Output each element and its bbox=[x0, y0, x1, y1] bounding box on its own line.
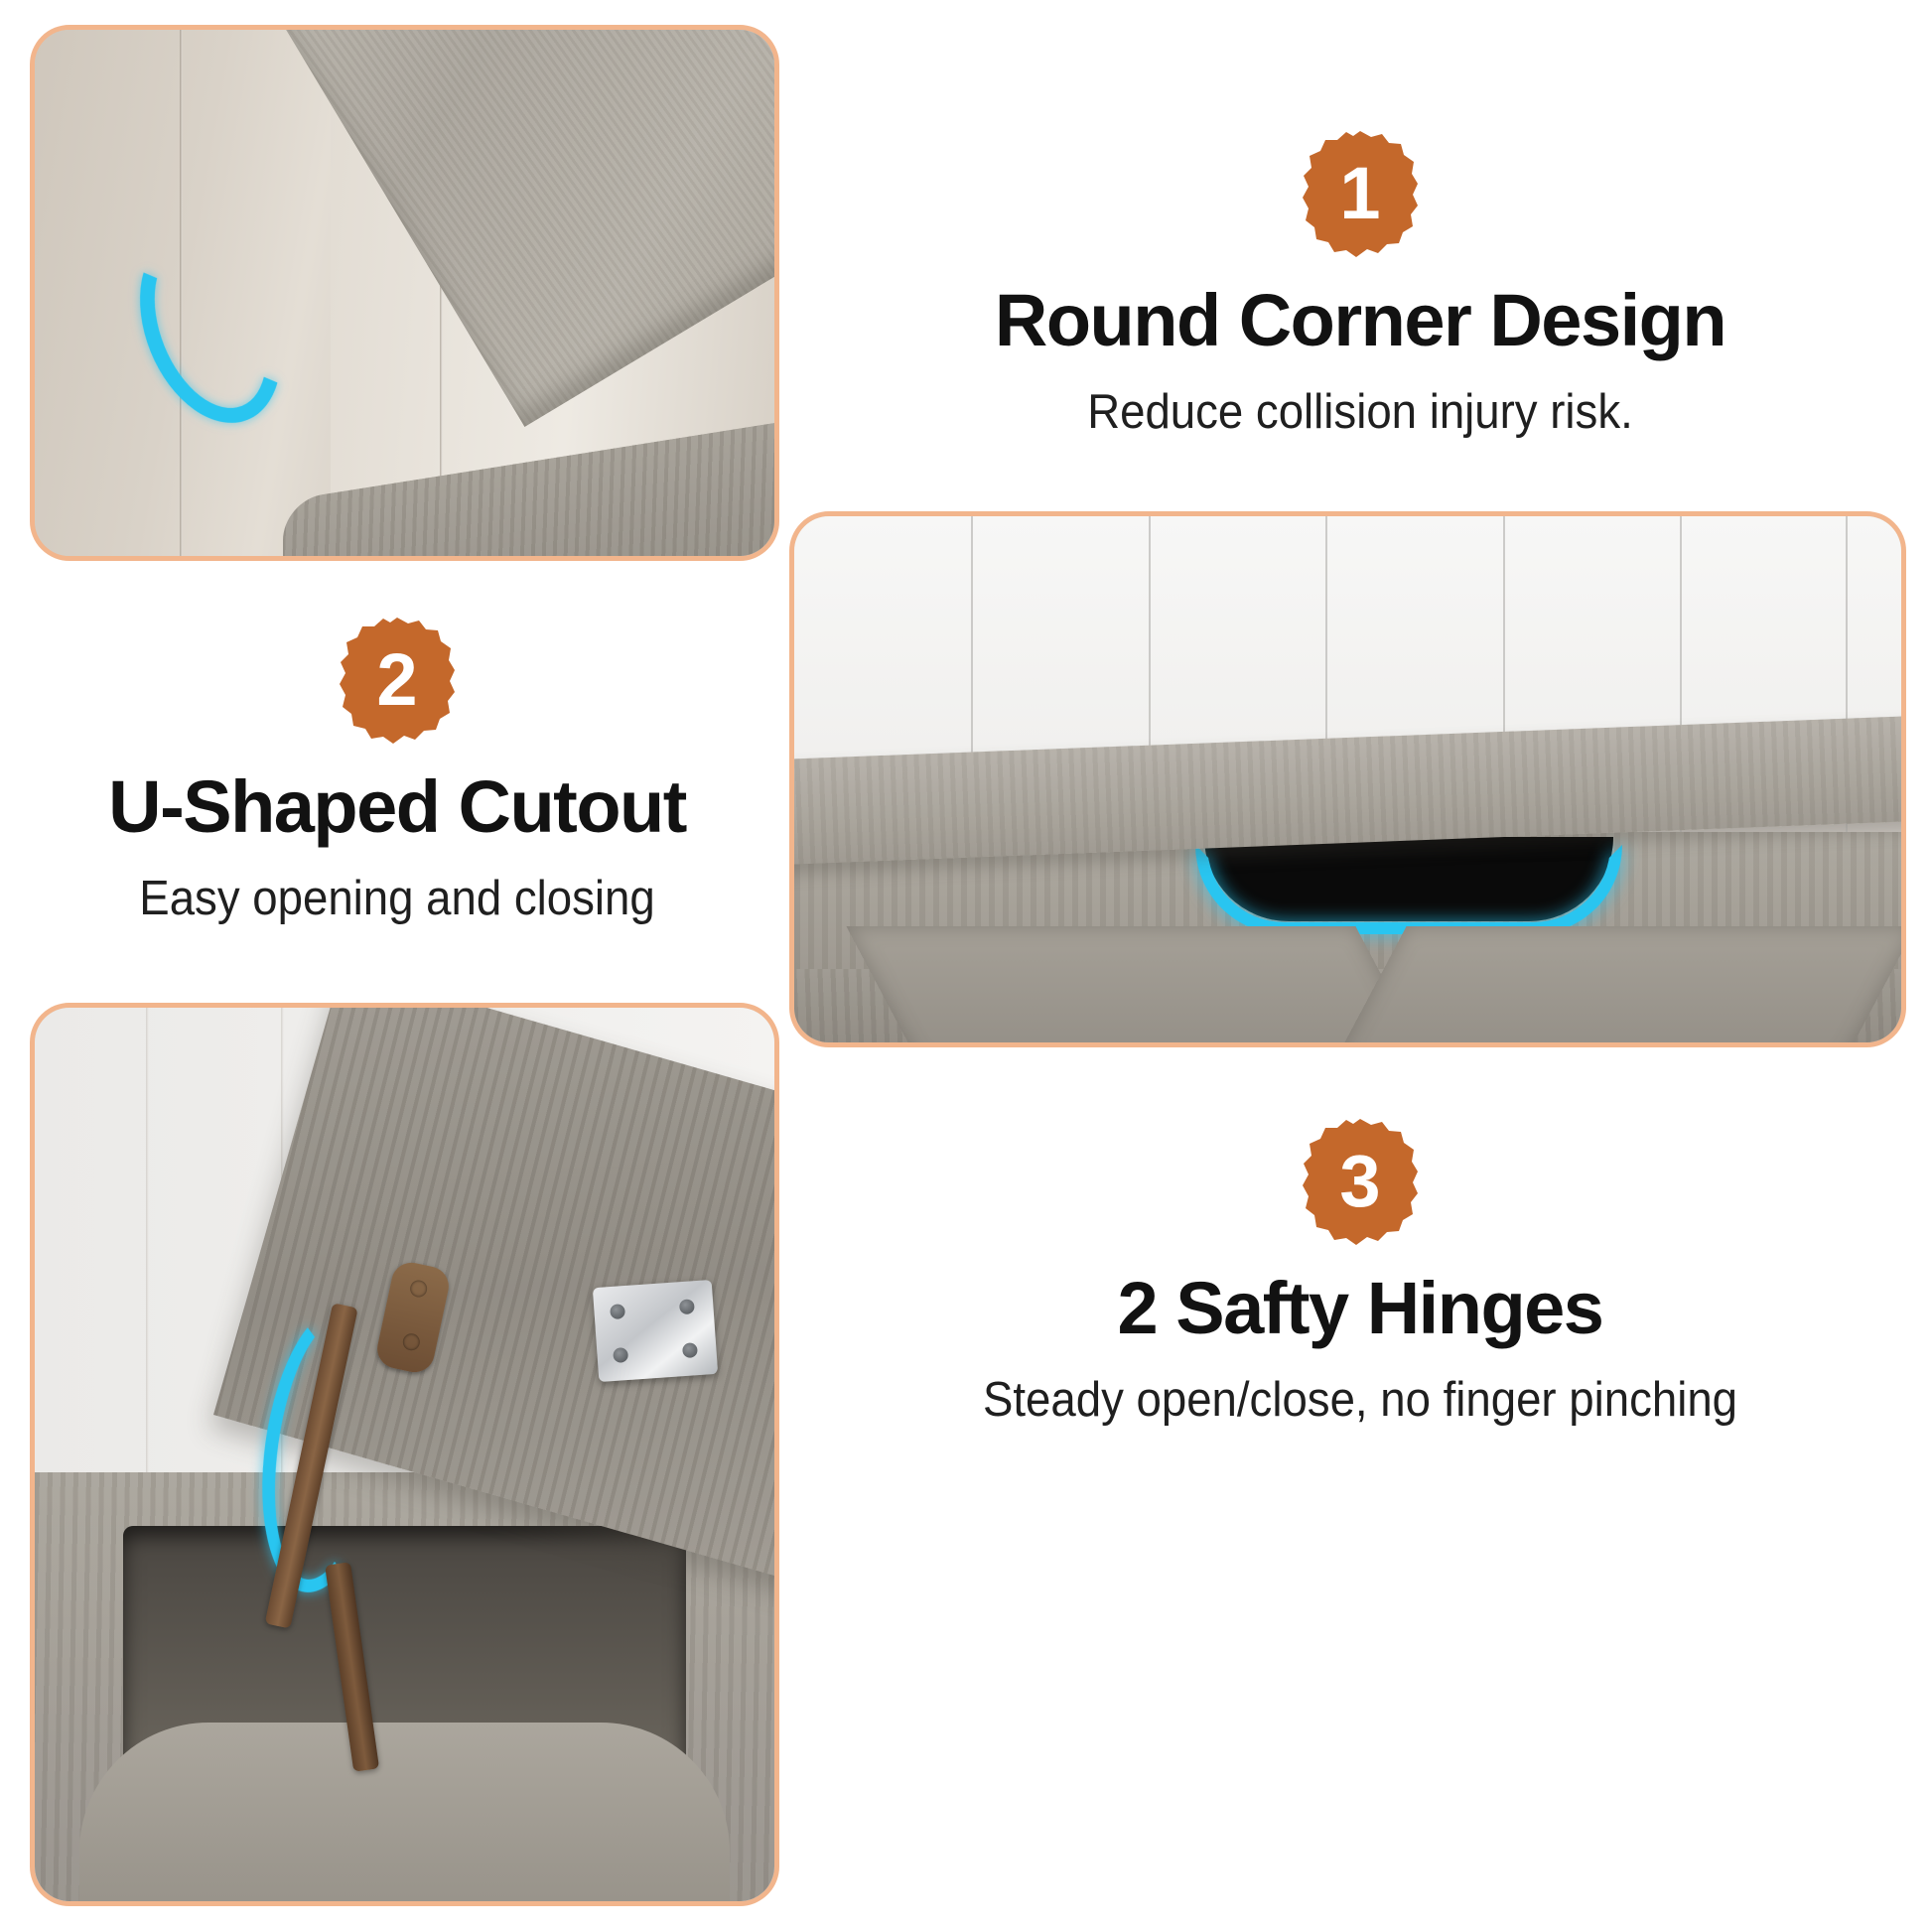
feature-block-2: 2 U-Shaped Cutout Easy opening and closi… bbox=[0, 616, 794, 926]
hinge-screw-hole-icon bbox=[679, 1299, 695, 1314]
feature-subtitle: Reduce collision injury risk. bbox=[853, 384, 1868, 440]
badge-number: 3 bbox=[1301, 1117, 1420, 1250]
feature-title: 2 Safty Hinges bbox=[794, 1266, 1926, 1350]
chevron-plank-right bbox=[1333, 926, 1906, 1047]
infographic-canvas: 1 Round Corner Design Reduce collision i… bbox=[0, 0, 1932, 1932]
starburst-badge-icon: 2 bbox=[338, 616, 457, 749]
hinge-screw-hole-icon bbox=[610, 1304, 625, 1319]
badge-number: 1 bbox=[1301, 129, 1420, 262]
feature-block-1: 1 Round Corner Design Reduce collision i… bbox=[814, 129, 1906, 440]
round-corner-photo bbox=[30, 25, 779, 561]
storage-box-front-curve bbox=[79, 1723, 731, 1906]
screw-icon bbox=[409, 1279, 429, 1299]
hinge-screw-hole-icon bbox=[613, 1347, 628, 1363]
badge-number: 2 bbox=[338, 616, 457, 749]
feature-title: Round Corner Design bbox=[814, 278, 1906, 362]
starburst-badge-icon: 1 bbox=[1301, 129, 1420, 262]
feature-block-3: 3 2 Safty Hinges Steady open/close, no f… bbox=[794, 1117, 1926, 1428]
feature-subtitle: Steady open/close, no finger pinching bbox=[834, 1372, 1886, 1428]
hinge-screw-hole-icon bbox=[682, 1342, 698, 1358]
screw-icon bbox=[401, 1332, 421, 1352]
safety-hinges-photo bbox=[30, 1003, 779, 1906]
metal-hinge-plate bbox=[593, 1280, 718, 1382]
feature-subtitle: Easy opening and closing bbox=[28, 871, 766, 926]
feature-title: U-Shaped Cutout bbox=[0, 764, 794, 849]
starburst-badge-icon: 3 bbox=[1301, 1117, 1420, 1250]
u-shaped-cutout-photo bbox=[789, 511, 1906, 1047]
chevron-plank-left bbox=[847, 926, 1429, 1047]
cyan-u-glow-icon bbox=[1195, 845, 1622, 934]
